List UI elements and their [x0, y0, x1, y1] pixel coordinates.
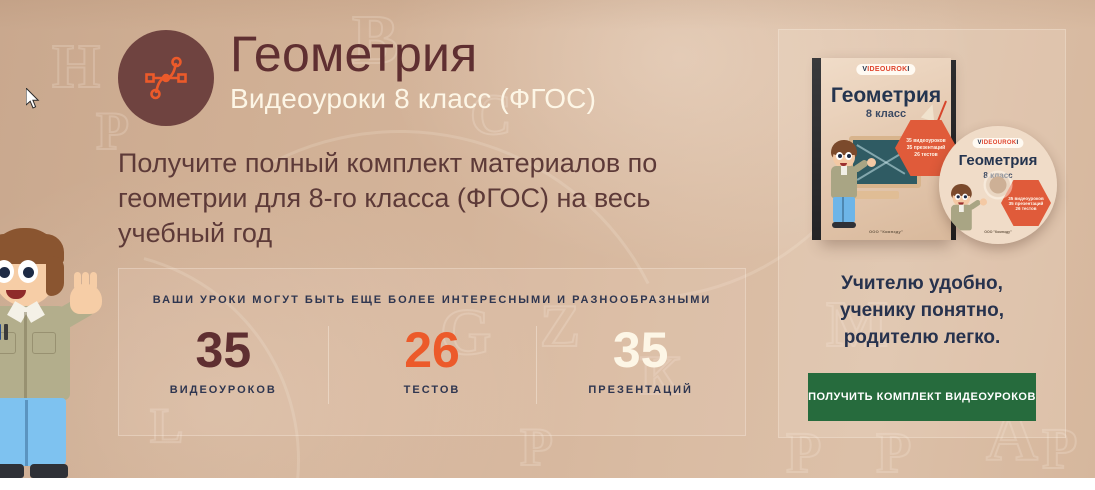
badge-line: 26 тестов	[914, 152, 937, 158]
mouse-pointer	[26, 88, 40, 109]
hero-header: Геометрия Видеоуроки 8 класс (ФГОС)	[118, 26, 758, 126]
badge-line: 35 презентаций	[907, 145, 945, 151]
brand-logo-accent: IDEOUROK	[867, 66, 907, 73]
dvd-disc-hole	[990, 177, 1007, 194]
product-artwork: VIDEOUROKI Геометрия 8 класс 35	[779, 30, 1065, 262]
page-title: Геометрия	[230, 28, 596, 80]
stat-value: 35	[119, 322, 328, 378]
watermark-letter: Н	[52, 36, 100, 98]
brand-logo: VIDEOUROKI	[972, 138, 1023, 148]
stat-item-tests: 26 ТЕСТОВ	[328, 322, 537, 396]
brand-logo: VIDEOUROKI	[856, 64, 915, 75]
tagline-line: родителю легко.	[779, 324, 1065, 351]
badge-line: 35 видеоуроков	[906, 138, 945, 144]
hero-section: Геометрия Видеоуроки 8 класс (ФГОС) Полу…	[118, 26, 758, 251]
hero-titles: Геометрия Видеоуроки 8 класс (ФГОС)	[230, 26, 596, 116]
page-subtitle: Видеоуроки 8 класс (ФГОС)	[230, 82, 596, 116]
features-badge: 35 видеоуроков 35 презентаций 26 тестов	[1001, 180, 1051, 226]
stat-value: 35	[536, 322, 745, 378]
mascot-boy-illustration	[0, 228, 102, 478]
logo-badge	[118, 30, 214, 126]
stat-item-presentations: 35 ПРЕЗЕНТАЦИЙ	[536, 322, 745, 396]
dvd-disc-footer: ООО "Компэду"	[939, 230, 1057, 234]
stats-heading: ВАШИ УРОКИ МОГУТ БЫТЬ ЕЩЕ БОЛЕЕ ИНТЕРЕСН…	[119, 294, 745, 306]
offer-tagline: Учителю удобно, ученику понятно, родител…	[779, 270, 1065, 351]
get-videolessons-button[interactable]: ПОЛУЧИТЬ КОМПЛЕКТ ВИДЕОУРОКОВ	[808, 373, 1036, 421]
stat-label: ПРЕЗЕНТАЦИЙ	[536, 384, 745, 396]
dvd-box-footer: ООО "Компэду"	[821, 229, 951, 234]
dvd-disc-title: Геометрия	[939, 152, 1057, 169]
brand-logo-accent: IDEOUROK	[982, 140, 1017, 146]
stat-value: 26	[328, 322, 537, 378]
dvd-disc: VIDEOUROKI Геометрия 8 класс 35 видеоуро…	[939, 126, 1057, 244]
landing-page: Н Р В С G Z К I М А Р Р Р Р L	[0, 0, 1095, 478]
dvd-box: VIDEOUROKI Геометрия 8 класс 35	[821, 58, 951, 240]
bottom-white-strip	[0, 478, 1095, 490]
stat-label: ТЕСТОВ	[328, 384, 537, 396]
dvd-disc-face: VIDEOUROKI Геометрия 8 класс 35 видеоуро…	[939, 126, 1057, 244]
dvd-box-spine	[812, 58, 821, 240]
tagline-line: ученику понятно,	[779, 297, 1065, 324]
stats-row: 35 ВИДЕОУРОКОВ 26 ТЕСТОВ 35 ПРЕЗЕНТАЦИЙ	[119, 322, 745, 396]
hero-description: Получите полный комплект материалов по г…	[118, 146, 738, 251]
tagline-line: Учителю удобно,	[779, 270, 1065, 297]
badge-line: 26 тестов	[1015, 206, 1036, 211]
stat-label: ВИДЕОУРОКОВ	[119, 384, 328, 396]
stats-panel: ВАШИ УРОКИ МОГУТ БЫТЬ ЕЩЕ БОЛЕЕ ИНТЕРЕСН…	[118, 268, 746, 436]
offer-panel: VIDEOUROKI Геометрия 8 класс 35	[778, 29, 1066, 438]
stat-item-videolessons: 35 ВИДЕОУРОКОВ	[119, 322, 328, 396]
bezier-path-icon	[140, 52, 192, 104]
